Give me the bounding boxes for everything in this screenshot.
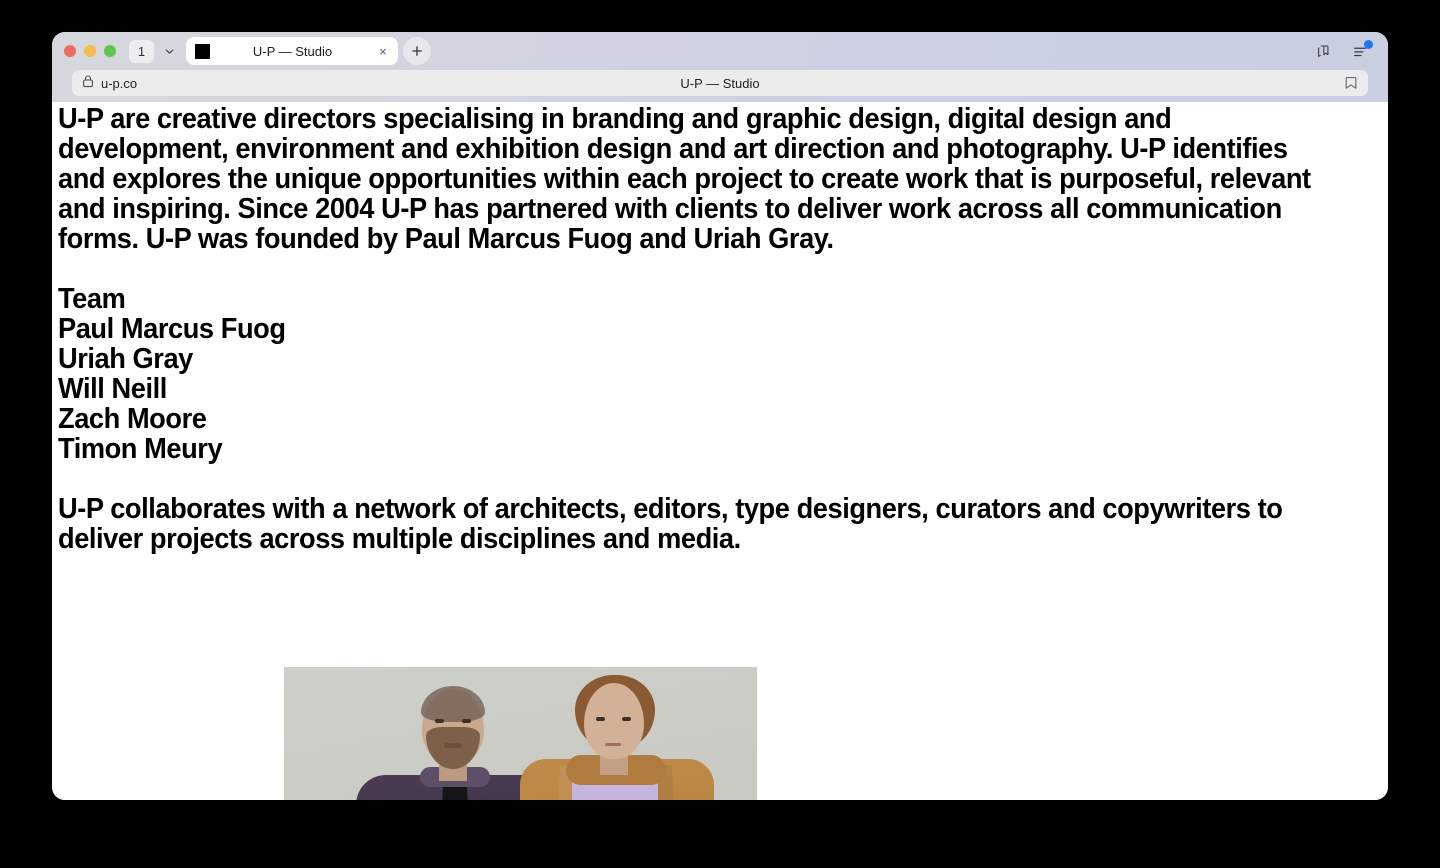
titlebar-actions	[1312, 40, 1372, 62]
new-tab-button[interactable]	[403, 37, 431, 65]
team-member: Paul Marcus Fuog	[58, 314, 1317, 344]
person-left-mouth	[444, 743, 462, 748]
team-heading: Team	[58, 284, 1317, 314]
spacer	[58, 464, 1376, 494]
person-right-eye	[622, 717, 631, 721]
tab-count-badge[interactable]: 1	[129, 40, 154, 63]
studio-founders-photo-image	[284, 667, 757, 800]
collaborators-paragraph: U-P collaborates with a network of archi…	[58, 494, 1317, 554]
person-left-beard	[426, 727, 480, 769]
team-member: Timon Meury	[58, 434, 1317, 464]
browser-titlebar: 1 U-P — Studio ×	[52, 32, 1388, 70]
url-host-text: u-p.co	[101, 76, 137, 91]
lock-icon	[82, 74, 94, 93]
tab-title: U-P — Studio	[218, 44, 367, 59]
url-left-group: u-p.co	[82, 74, 137, 93]
menu-icon[interactable]	[1350, 40, 1372, 62]
person-right-mouth	[605, 743, 621, 746]
person-left-hair	[421, 686, 485, 722]
person-right-eye	[596, 717, 605, 721]
team-section: Team Paul Marcus Fuog Uriah Gray Will Ne…	[58, 284, 1317, 464]
bookmark-icon[interactable]	[1344, 75, 1358, 91]
black-square-favicon	[195, 44, 210, 59]
spacer	[58, 254, 1376, 284]
person-left-eye	[462, 719, 471, 723]
page-inner: U-P are creative directors specialising …	[58, 104, 1376, 554]
url-page-title: U-P — Studio	[72, 70, 1368, 96]
browser-tab[interactable]: U-P — Studio ×	[186, 37, 398, 65]
team-member: Uriah Gray	[58, 344, 1317, 374]
duplicate-tabs-icon[interactable]	[1312, 40, 1334, 62]
chevron-down-icon[interactable]	[156, 40, 182, 63]
studio-founders-photo	[284, 667, 757, 800]
page-content: U-P are creative directors specialising …	[52, 102, 1388, 800]
studio-intro-paragraph: U-P are creative directors specialising …	[58, 104, 1317, 254]
traffic-lights	[64, 45, 116, 57]
minimize-window-button[interactable]	[84, 45, 96, 57]
team-member: Will Neill	[58, 374, 1317, 404]
close-tab-button[interactable]: ×	[375, 43, 391, 59]
url-bar[interactable]: u-p.co U-P — Studio	[72, 70, 1368, 96]
close-window-button[interactable]	[64, 45, 76, 57]
address-bar-row: u-p.co U-P — Studio	[52, 70, 1388, 102]
team-member: Zach Moore	[58, 404, 1317, 434]
menu-notification-dot	[1364, 40, 1373, 49]
zoom-window-button[interactable]	[104, 45, 116, 57]
person-left-eye	[435, 719, 444, 723]
browser-window: 1 U-P — Studio ×	[52, 32, 1388, 800]
